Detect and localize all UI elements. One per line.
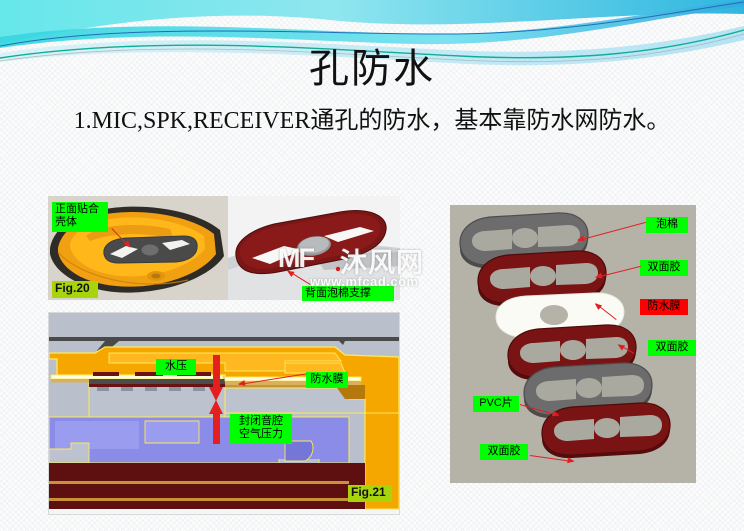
layer-adhesive-3 [542,403,670,458]
foam-gasket-render [228,196,400,300]
cross-section-graphic [49,313,399,514]
label-adhesive-3: 双面胶 [480,444,528,460]
water-pressure-down-arrow [209,355,223,401]
label-front-fit-housing: 正面贴合 壳体 [52,202,108,232]
label-pvc-sheet: PVC片 [473,396,519,412]
slide-canvas: 孔防水 1.MIC,SPK,RECEIVER通孔的防水，基本靠防水网防水。 [0,0,744,531]
figure-21-caption: Fig.21 [348,485,392,502]
label-sealed-cavity-pressure: 封闭音腔 空气压力 [230,414,292,444]
page-title: 孔防水 [0,46,744,92]
label-adhesive-2: 双面胶 [648,340,696,356]
figure-20-caption: Fig.20 [52,281,98,298]
page-subtitle: 1.MIC,SPK,RECEIVER通孔的防水，基本靠防水网防水。 [0,106,744,136]
label-adhesive-1: 双面胶 [640,260,688,276]
label-water-pressure: 水压 [156,359,196,375]
cavity-pressure-up-arrow [209,400,223,444]
label-back-foam-support: 背面泡棉支撑 [302,286,394,301]
label-waterproof-membrane-layer: 防水膜 [640,299,688,315]
label-waterproof-membrane: 防水膜 [306,372,348,388]
label-foam: 泡棉 [646,217,688,233]
foam-gasket-render-graphic [228,196,400,300]
